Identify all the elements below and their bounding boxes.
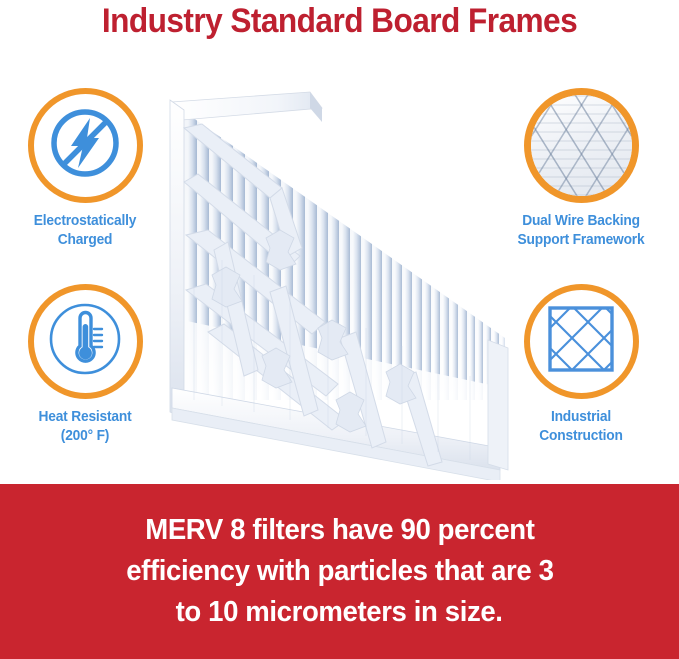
feature-label-line2: (200° F) [4, 427, 166, 446]
banner-line-2: efficiency with particles that are 3 [126, 551, 553, 592]
lightning-bolt-no-symbol-icon [44, 102, 126, 189]
feature-label-line2: Construction [500, 427, 662, 446]
page-title: Industry Standard Board Frames [24, 2, 655, 41]
lattice-grid-square-icon [544, 302, 618, 381]
banner-line-3: to 10 micrometers in size. [176, 592, 503, 633]
feature-label: Electrostatically Charged [4, 212, 166, 251]
feature-label-line1: Heat Resistant [4, 408, 166, 427]
feature-icon-ring [28, 88, 143, 203]
feature-industrial-construction: Industrial Construction [496, 284, 666, 447]
product-image [150, 70, 520, 480]
feature-label-line1: Dual Wire Backing [500, 212, 662, 231]
merv-rating-banner: MERV 8 filters have 90 percent efficienc… [0, 484, 679, 659]
feature-icon-ring [524, 88, 639, 203]
feature-icon-ring [28, 284, 143, 399]
feature-label-line2: Support Framework [500, 231, 662, 250]
feature-electrostatically-charged: Electrostatically Charged [0, 88, 170, 251]
banner-line-1: MERV 8 filters have 90 percent [145, 510, 534, 551]
feature-label: Industrial Construction [500, 408, 662, 447]
thermometer-icon [44, 298, 126, 385]
feature-dual-wire-backing: Dual Wire Backing Support Framework [496, 88, 666, 251]
feature-label-line1: Industrial [500, 408, 662, 427]
feature-label-line2: Charged [4, 231, 166, 250]
infographic-page: Industry Standard Board Frames [0, 0, 679, 659]
wire-mesh-photo-icon [531, 95, 632, 196]
feature-label: Heat Resistant (200° F) [4, 408, 166, 447]
feature-label: Dual Wire Backing Support Framework [500, 212, 662, 251]
feature-heat-resistant: Heat Resistant (200° F) [0, 284, 170, 447]
feature-label-line1: Electrostatically [4, 212, 166, 231]
feature-icon-ring [524, 284, 639, 399]
